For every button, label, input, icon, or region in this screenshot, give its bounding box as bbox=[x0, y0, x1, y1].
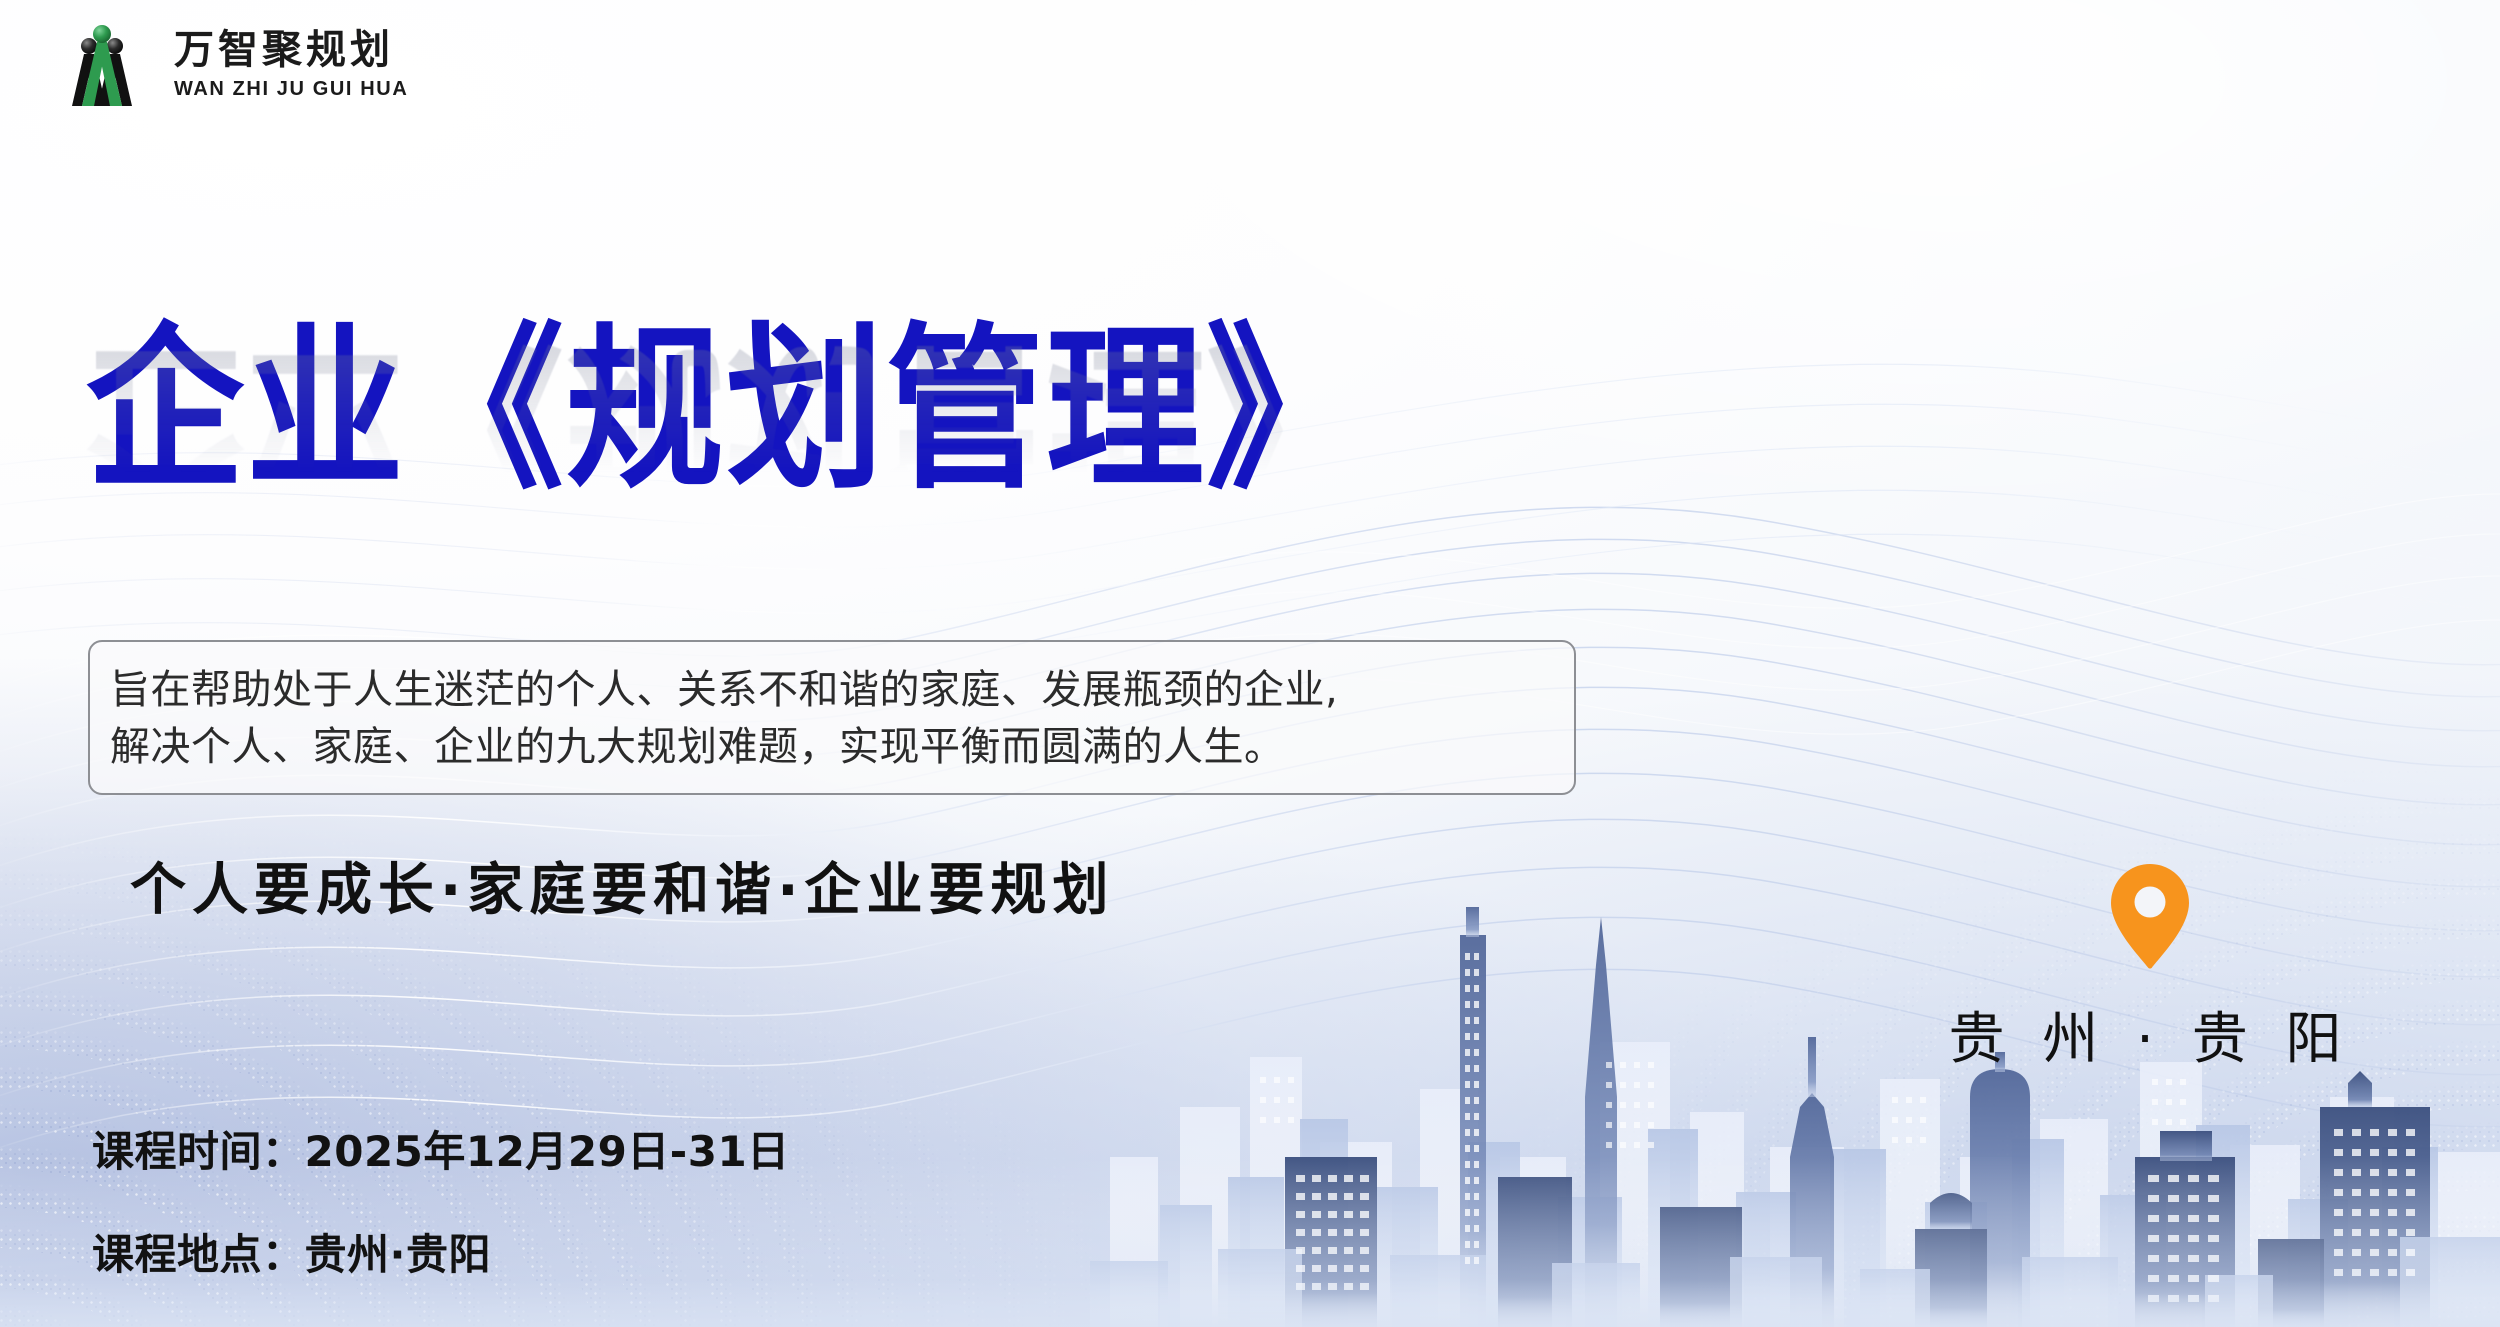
slogan-text: 个人要成长·家庭要和谐·企业要规划 bbox=[130, 845, 1115, 926]
course-time-row: 课程时间：2025年12月29日-31日 bbox=[92, 1118, 790, 1179]
description-box: 旨在帮助处于人生迷茫的个人、关系不和谐的家庭、发展瓶颈的企业, 解决个人、家庭、… bbox=[88, 640, 1576, 795]
location-group: 贵 州 · 贵 阳 bbox=[1960, 862, 2340, 1075]
brand-text: 万智聚规划 WAN ZHI JU GUI HUA bbox=[174, 26, 408, 99]
brand-name-pinyin: WAN ZHI JU GUI HUA bbox=[174, 79, 408, 99]
location-label: 贵 州 · 贵 阳 bbox=[1949, 994, 2352, 1075]
course-place-row: 课程地点：贵州·贵阳 bbox=[92, 1221, 790, 1282]
hero-title-block: 企业《规划管理》 企业《规划管理》 bbox=[86, 322, 1366, 480]
description-line-2: 解决个人、家庭、企业的九大规划难题，实现平衡而圆满的人生。 bbox=[110, 719, 1552, 776]
course-info-block: 课程时间：2025年12月29日-31日 课程地点：贵州·贵阳 bbox=[92, 1118, 790, 1282]
poster-canvas: 万智聚规划 WAN ZHI JU GUI HUA 企业《规划管理》 企业《规划管… bbox=[0, 0, 2500, 1327]
brand-logo[interactable]: 万智聚规划 WAN ZHI JU GUI HUA bbox=[48, 16, 408, 108]
page-title: 企业《规划管理》 bbox=[86, 322, 1366, 499]
map-pin-icon bbox=[2108, 862, 2192, 970]
description-line-1: 旨在帮助处于人生迷茫的个人、关系不和谐的家庭、发展瓶颈的企业, bbox=[110, 662, 1552, 719]
brand-name-cn: 万智聚规划 bbox=[174, 30, 408, 70]
three-people-group-icon bbox=[48, 16, 156, 108]
